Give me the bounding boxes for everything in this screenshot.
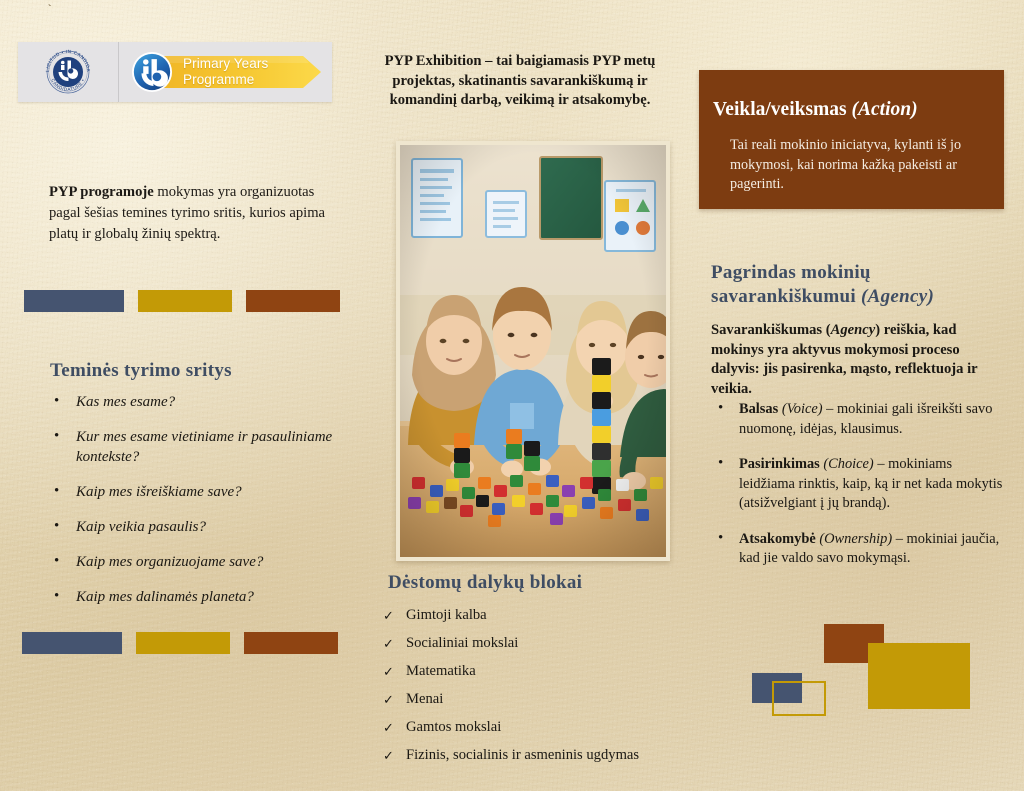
classroom-photo [400,145,666,557]
classroom-photo-illustration [400,145,666,557]
agency-term-en: (Ownership) [819,531,892,547]
color-bar-set-bottom [22,632,338,654]
color-bar-gold [138,290,232,312]
subjects-list: Gimtoji kalba Socialiniai mokslai Matema… [380,606,690,774]
list-item: Menai [380,690,690,709]
deco-rect-outline [772,681,826,716]
agency-term: Pasirinkimas [739,456,820,472]
color-bar-gold [136,632,230,654]
pyp-logo-line1: Primary Years [183,56,268,72]
action-title-plain: Veikla/veiksmas [713,99,852,120]
list-item: Pasirinkimas (Choice) – mokiniams leidži… [711,455,1011,514]
list-item: Kas mes esame? [50,392,350,412]
action-callout-box: Veikla/veiksmas (Action) Tai reali mokin… [699,70,1004,209]
ib-logo-lockup: SOLICITUD • IN CANDIDACY CANDIDATURE • [18,42,332,102]
agency-term: Balsas [739,401,778,417]
color-bar-brown [244,632,338,654]
ib-candidacy-seal-icon: SOLICITUD • IN CANDIDACY CANDIDATURE • [43,47,93,97]
action-body-text: Tai reali mokinio iniciatyva, kylanti iš… [730,136,988,195]
list-item: Kur mes esame vietiniame ir pasauliniame… [50,427,350,467]
list-item: Atsakomybė (Ownership) – mokiniai jaučia… [711,530,1011,569]
brochure-page: ` [0,0,1024,791]
list-item: Gimtoji kalba [380,606,690,625]
agency-term-en: (Choice) [823,456,873,472]
action-title-italic: (Action) [852,99,918,120]
list-item: Socialiniai mokslai [380,634,690,653]
list-item: Kaip mes organizuojame save? [50,552,350,572]
list-item: Kaip mes išreiškiame save? [50,482,350,502]
agency-item-text: – mokiniai gali išreikšti savo nuomonę, … [739,401,992,437]
agency-lead-italic: Agency [831,322,876,338]
agency-term: Atsakomybė [739,531,816,547]
agency-term-en: (Voice) [782,401,823,417]
agency-list: Balsas (Voice) – mokiniai gali išreikšti… [711,400,1011,585]
pyp-intro-bold: PYP programoje [49,184,154,200]
list-item: Kaip mes dalinamės planeta? [50,587,350,607]
ib-pyp-logo: Primary Years Programme [119,42,332,102]
list-item: Kaip veikia pasaulis? [50,517,350,537]
list-item: Gamtos mokslai [380,718,690,737]
color-bar-blue [22,632,122,654]
deco-rect-gold [868,643,970,709]
exhibition-lead-text: PYP Exhibition – tai baigiamasis PYP met… [370,52,670,111]
pyp-intro-paragraph: PYP programoje mokymas yra organizuotas … [49,182,345,245]
ib-monogram-icon [131,51,173,93]
stray-tick-mark: ` [46,3,53,17]
pyp-logo-text: Primary Years Programme [183,56,268,87]
agency-lead-paragraph: Savarankiškumas (Agency) reiškia, kad mo… [711,321,1007,399]
list-item: Balsas (Voice) – mokiniai gali išreikšti… [711,400,1011,439]
color-bar-blue [24,290,124,312]
list-item: Matematika [380,662,690,681]
themes-heading: Teminės tyrimo sritys [50,359,232,383]
agency-heading: Pagrindas mokinių savarankiškumui (Agenc… [711,261,1011,309]
themes-list: Kas mes esame? Kur mes esame vietiniame … [50,392,350,622]
pyp-logo-line2: Programme [183,72,268,88]
agency-lead-part1: Savarankiškumas ( [711,322,831,338]
subjects-heading: Dėstomų dalykų blokai [388,571,582,595]
ib-candidacy-seal: SOLICITUD • IN CANDIDACY CANDIDATURE • [18,42,119,102]
color-bar-set-top [24,290,340,312]
list-item: Fizinis, socialinis ir asmeninis ugdymas [380,746,690,765]
agency-heading-plain: Pagrindas mokinių savarankiškumui [711,262,871,307]
color-bar-brown [246,290,340,312]
classroom-photo-frame [396,141,670,561]
agency-heading-italic: (Agency) [861,286,934,307]
action-title: Veikla/veiksmas (Action) [713,98,918,122]
